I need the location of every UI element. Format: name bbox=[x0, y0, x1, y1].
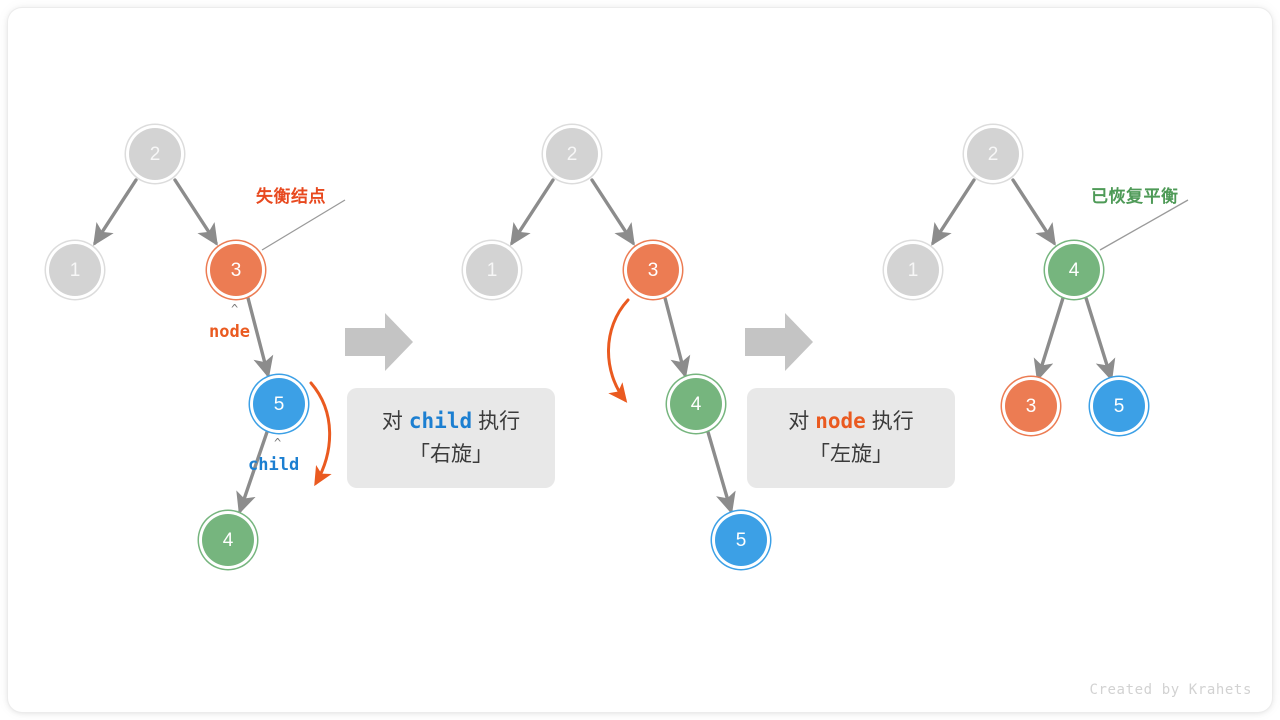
step-arrow-2-icon bbox=[745, 313, 813, 371]
child-caret-icon: ^ bbox=[274, 436, 281, 450]
tree-node-4-after[interactable]: 4 bbox=[1048, 244, 1100, 296]
callout-line-2: 「右旋」 bbox=[409, 439, 493, 472]
tree-node-3-mid[interactable]: 3 bbox=[627, 244, 679, 296]
node-value: 4 bbox=[691, 395, 702, 414]
right-rotation-curve bbox=[311, 383, 330, 483]
watermark-credit: Created by Krahets bbox=[1089, 682, 1252, 698]
callout-prefix: 对 bbox=[788, 406, 809, 439]
node-value: 1 bbox=[487, 261, 498, 280]
edge-4-to-3 bbox=[1038, 298, 1063, 378]
callout-prefix: 对 bbox=[382, 406, 403, 439]
tree-node-1-mid[interactable]: 1 bbox=[466, 244, 518, 296]
edge-4-to-5 bbox=[1086, 298, 1111, 378]
callout-suffix: 执行 bbox=[478, 406, 520, 439]
callout-line-1: 对 child 执行 bbox=[382, 405, 520, 439]
node-value: 3 bbox=[648, 261, 659, 280]
edge-3-to-4 bbox=[665, 298, 685, 375]
tree-node-5-after[interactable]: 5 bbox=[1093, 380, 1145, 432]
tree-node-1-after[interactable]: 1 bbox=[887, 244, 939, 296]
node-value: 2 bbox=[988, 145, 999, 164]
panel-before-edges bbox=[95, 180, 268, 511]
tree-node-2[interactable]: 2 bbox=[129, 128, 181, 180]
annotation-rebalanced: 已恢复平衡 bbox=[1091, 182, 1179, 207]
callout-suffix: 执行 bbox=[872, 406, 914, 439]
node-value: 5 bbox=[736, 531, 747, 550]
callout-var-child: child bbox=[403, 405, 478, 438]
node-value: 4 bbox=[1069, 261, 1080, 280]
node-value: 5 bbox=[1114, 397, 1125, 416]
tree-node-2-mid[interactable]: 2 bbox=[546, 128, 598, 180]
step-arrow-1-icon bbox=[345, 313, 413, 371]
edge-4-to-5 bbox=[708, 432, 731, 511]
node-value: 3 bbox=[231, 261, 242, 280]
edge-2-to-1 bbox=[933, 180, 974, 243]
node-value: 4 bbox=[223, 531, 234, 550]
edge-2-to-1 bbox=[512, 180, 553, 243]
callout-left-rotate-node: 对 node 执行 「左旋」 bbox=[747, 388, 955, 488]
node-value: 1 bbox=[70, 261, 81, 280]
var-label-child: child bbox=[248, 455, 299, 475]
annotation-unbalanced-node: 失衡结点 bbox=[256, 182, 326, 207]
node-value: 1 bbox=[908, 261, 919, 280]
edge-2-to-4 bbox=[1013, 180, 1054, 243]
left-rotation-curve bbox=[608, 300, 628, 400]
node-caret-icon: ^ bbox=[231, 302, 238, 316]
tree-node-1[interactable]: 1 bbox=[49, 244, 101, 296]
edges-layer bbox=[0, 0, 1280, 720]
tree-node-5-child[interactable]: 5 bbox=[253, 378, 305, 430]
diagram-root: 2 1 3 5 4 2 1 3 4 5 2 bbox=[0, 0, 1280, 720]
callout-var-node: node bbox=[809, 405, 872, 438]
node-value: 3 bbox=[1026, 397, 1037, 416]
node-value: 5 bbox=[274, 395, 285, 414]
leader-line-rebalanced bbox=[1100, 200, 1188, 250]
callout-line-1: 对 node 执行 bbox=[788, 405, 914, 439]
var-label-node: node bbox=[209, 322, 250, 342]
node-value: 2 bbox=[567, 145, 578, 164]
node-value: 2 bbox=[150, 145, 161, 164]
edge-2-to-1 bbox=[95, 180, 136, 243]
tree-node-5-mid[interactable]: 5 bbox=[715, 514, 767, 566]
diagram-stage: 2 1 3 5 4 2 1 3 4 5 2 bbox=[0, 0, 1280, 720]
tree-node-3-after[interactable]: 3 bbox=[1005, 380, 1057, 432]
edge-3-to-5 bbox=[248, 298, 268, 375]
tree-node-3-unbalanced[interactable]: 3 bbox=[210, 244, 262, 296]
step-arrows bbox=[345, 313, 813, 371]
callout-right-rotate-child: 对 child 执行 「右旋」 bbox=[347, 388, 555, 488]
tree-node-4[interactable]: 4 bbox=[202, 514, 254, 566]
tree-node-2-after[interactable]: 2 bbox=[967, 128, 1019, 180]
tree-node-4-mid[interactable]: 4 bbox=[670, 378, 722, 430]
leader-line-unbalanced bbox=[262, 200, 345, 250]
edge-2-to-3 bbox=[175, 180, 216, 243]
callout-line-2: 「左旋」 bbox=[809, 439, 893, 472]
edge-2-to-3 bbox=[592, 180, 633, 243]
